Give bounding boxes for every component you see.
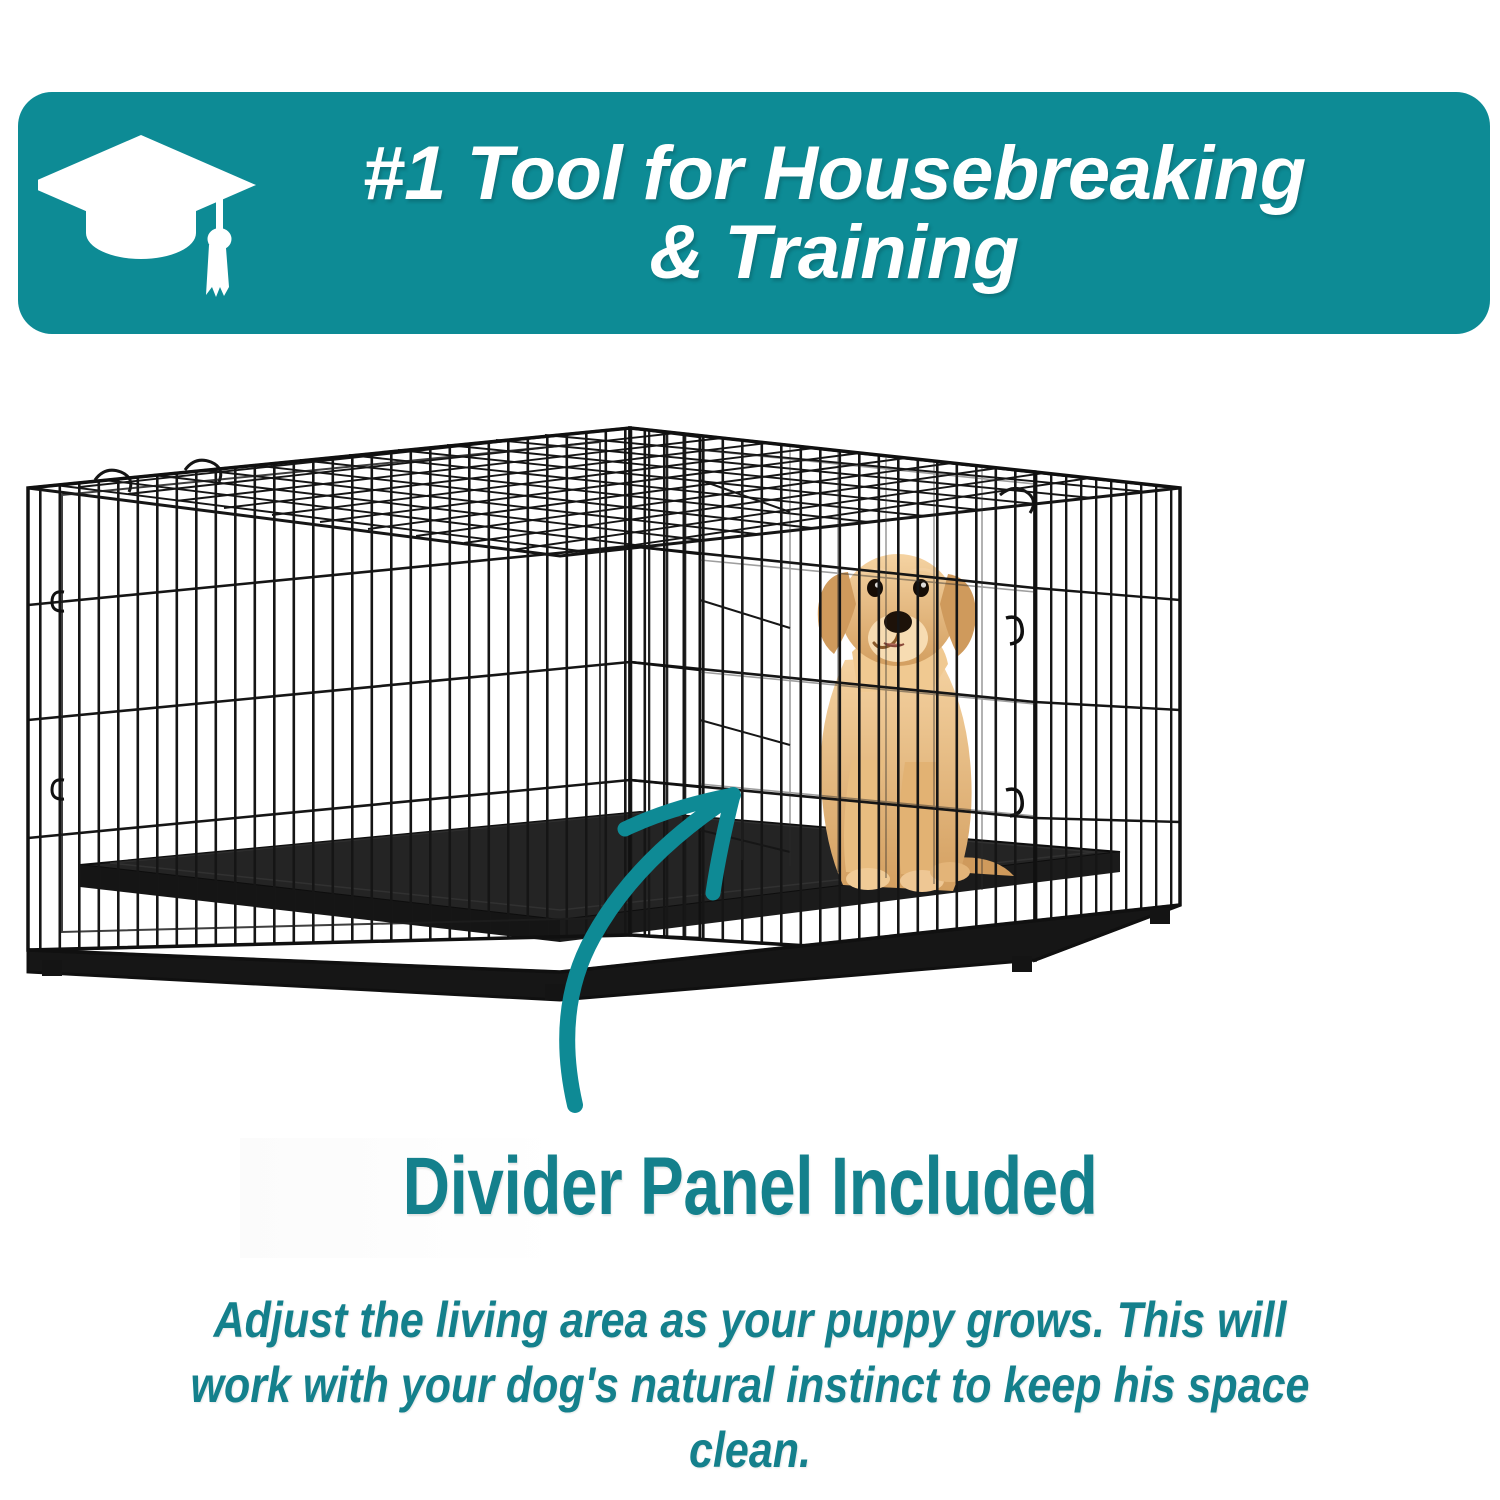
header-banner: #1 Tool for Housebreaking & Training [18,92,1490,334]
subheading-divider-panel-included: Divider Panel Included [150,1140,1350,1234]
header-title: #1 Tool for Housebreaking & Training [288,134,1490,292]
body-description-text: Adjust the living area as your puppy gro… [165,1288,1335,1483]
divider-panel-callout-arrow [0,360,1500,1120]
product-image [0,360,1500,1120]
graduation-cap-icon [18,92,288,334]
